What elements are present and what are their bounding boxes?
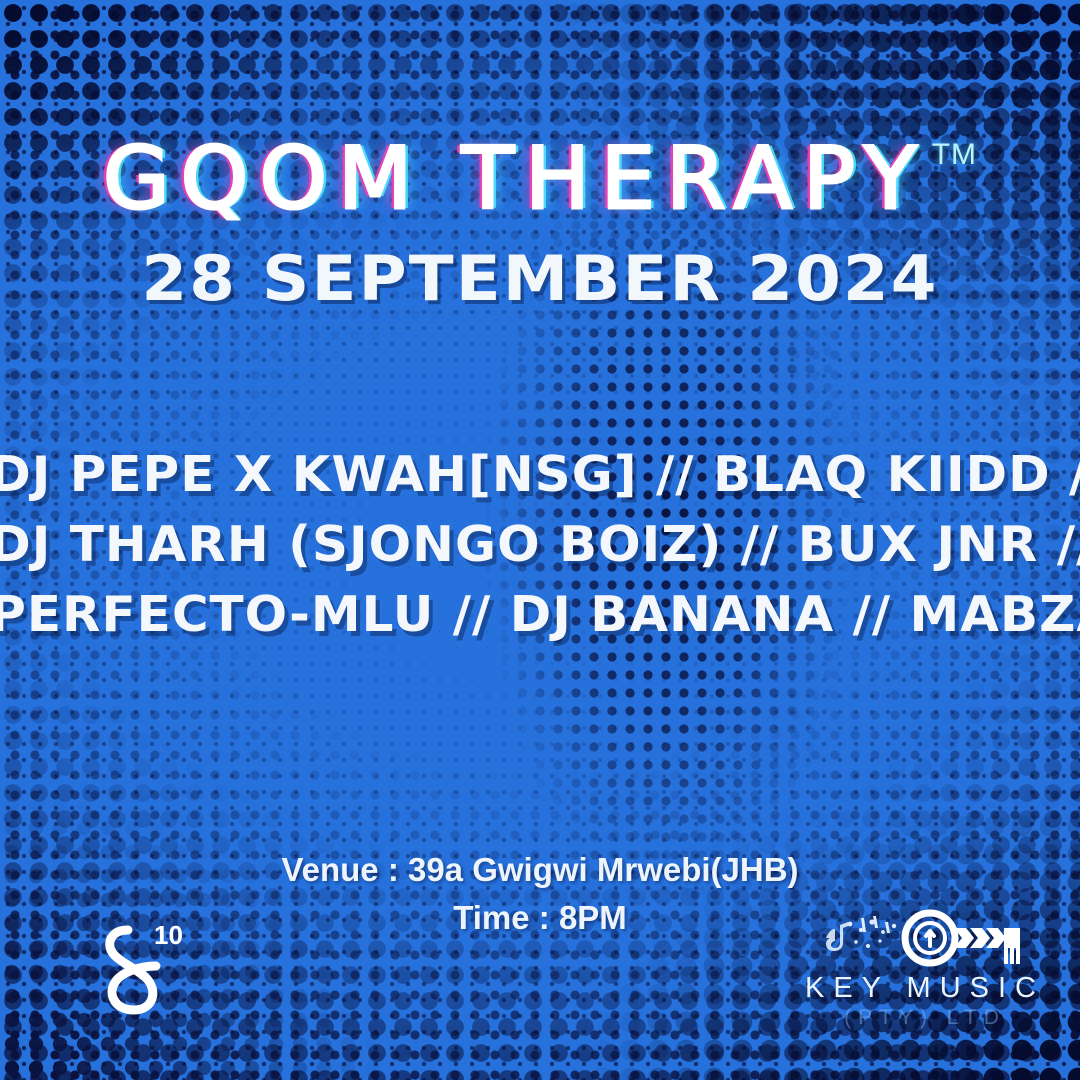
event-title: GQOM THERAPY — [103, 136, 928, 222]
key-music-logo[interactable]: KEY MUSIC (PTY) LTD — [800, 908, 1050, 1030]
logo-superscript: 10 — [154, 920, 183, 950]
lineup-line: DJ THARH (SJONGO BOIZ) // BUX JNR // DJ … — [0, 510, 1080, 580]
event-flyer: GQOM THERAPYTM 28 SEPTEMBER 2024 DJ PEPE… — [0, 0, 1080, 1080]
organiser-logo[interactable]: 10 — [82, 908, 202, 1028]
flyer-content: GQOM THERAPYTM 28 SEPTEMBER 2024 DJ PEPE… — [0, 0, 1080, 1080]
title-row: GQOM THERAPYTM — [0, 136, 1080, 222]
key-music-wordmark: KEY MUSIC — [800, 972, 1050, 1005]
venue-text: Venue : 39a Gwigwi Mrwebi(JHB) — [0, 846, 1080, 894]
g10-ampersand-icon: 10 — [82, 908, 202, 1028]
artist-lineup: DJ PEPE X KWAH[NSG] // BLAQ KIIDD // SOL… — [0, 440, 1080, 650]
lineup-line: DJ PEPE X KWAH[NSG] // BLAQ KIIDD // SOL… — [0, 440, 1080, 510]
key-music-subtext: (PTY) LTD — [800, 1006, 1050, 1030]
lineup-line: PERFECTO-MLU // DJ BANANA // MABZAR — [0, 580, 1080, 650]
event-date: 28 SEPTEMBER 2024 — [0, 248, 1080, 310]
trademark-symbol: TM — [932, 138, 977, 172]
key-with-music-notes-icon — [820, 908, 1030, 970]
